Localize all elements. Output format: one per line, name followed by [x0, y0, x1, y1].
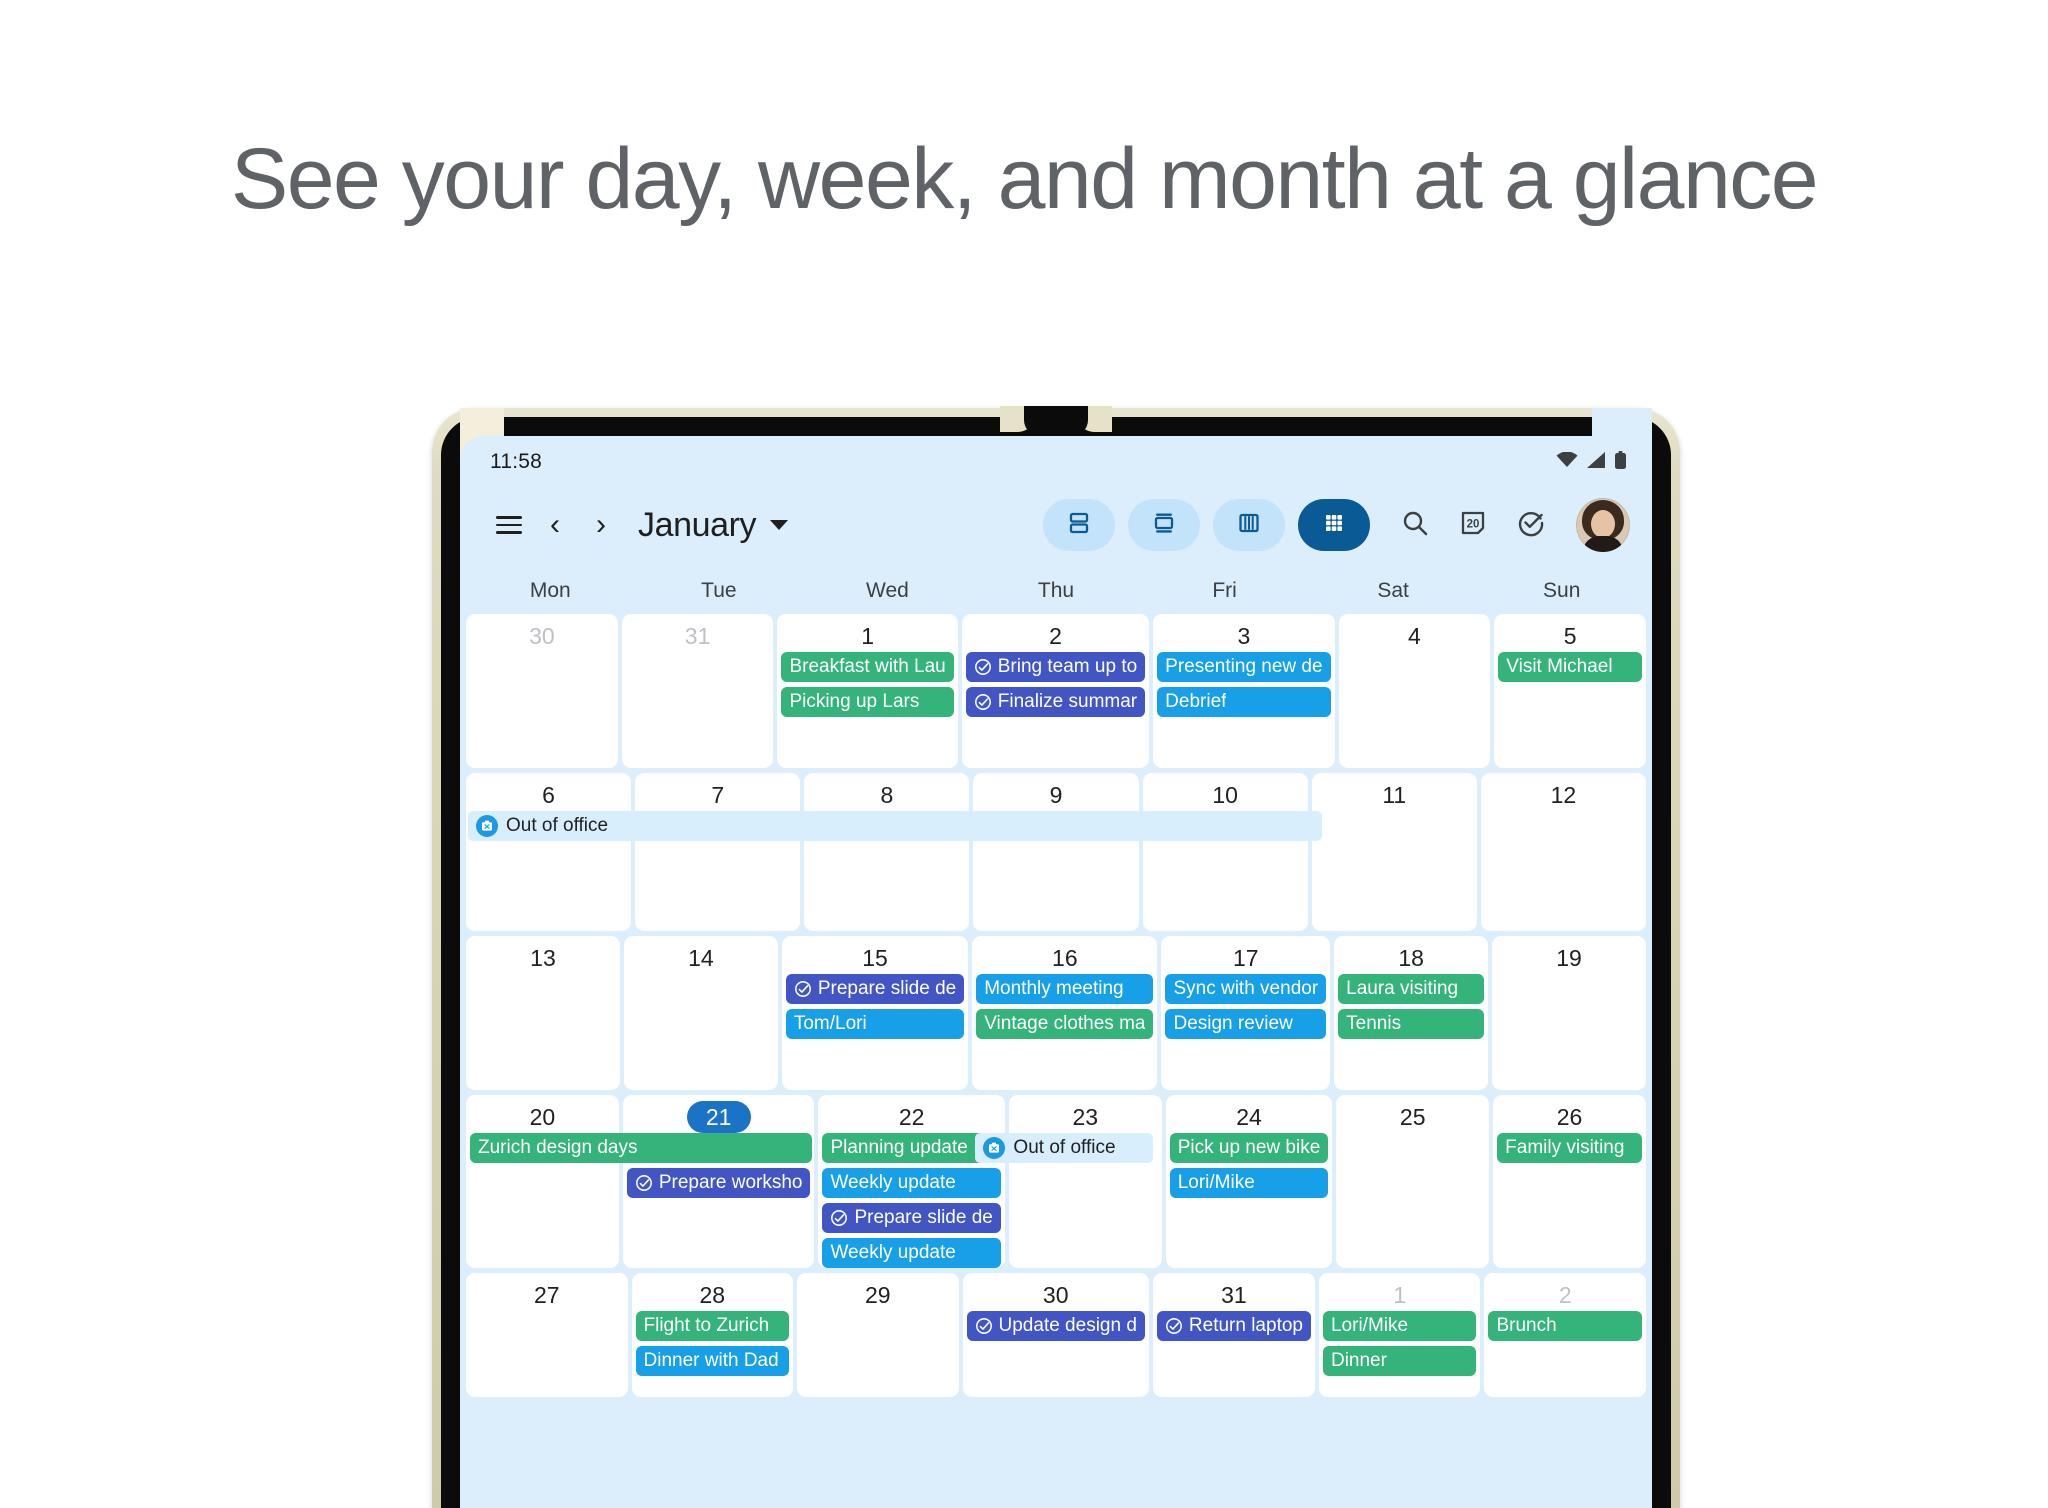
task-chip[interactable]: Update design d: [967, 1311, 1145, 1341]
task-chip[interactable]: Prepare slide de: [786, 974, 964, 1004]
status-bar: 11:58: [460, 436, 1652, 482]
battery-icon: [1615, 451, 1626, 474]
day-events: Brunch: [1484, 1311, 1646, 1341]
event-chip[interactable]: Monthly meeting: [976, 974, 1153, 1004]
calendar-day-cell[interactable]: 30: [466, 614, 618, 768]
chip-label: Finalize summar: [998, 687, 1137, 717]
task-check-icon: [635, 1174, 653, 1192]
toolbar-actions: 20: [1392, 498, 1630, 552]
signal-icon: [1587, 452, 1606, 473]
day-number: 7: [635, 779, 800, 811]
calendar-day-cell[interactable]: 5Visit Michael: [1494, 614, 1646, 768]
day-number: 1: [1319, 1279, 1481, 1311]
event-chip[interactable]: Presenting new de: [1157, 652, 1330, 682]
day-number: 24: [1166, 1101, 1333, 1133]
chip-label: Flight to Zurich: [644, 1311, 770, 1341]
day-number: 30: [466, 620, 618, 652]
day-number: 30: [963, 1279, 1149, 1311]
day-events: Monthly meetingVintage clothes ma: [972, 974, 1157, 1039]
calendar-day-cell[interactable]: 1Breakfast with LauPicking up Lars: [777, 614, 957, 768]
calendar-day-cell[interactable]: 10: [1143, 773, 1308, 931]
day-number: 2: [1484, 1279, 1646, 1311]
day-number: 21: [623, 1101, 815, 1133]
day-events: Return laptop: [1153, 1311, 1315, 1341]
app-toolbar: ‹ › January: [460, 482, 1652, 568]
day-events: Sync with vendorDesign review: [1161, 974, 1330, 1039]
chip-label: Breakfast with Lau: [789, 652, 945, 682]
chip-label: Bring team up to: [998, 652, 1137, 682]
calendar-day-cell[interactable]: 22Planning updateWeekly updatePrepare sl…: [818, 1095, 1004, 1268]
calendar-day-cell[interactable]: 24Pick up new bikeLori/Mike: [1166, 1095, 1333, 1268]
day-number: 4: [1339, 620, 1491, 652]
day-events: Flight to ZurichDinner with Dad: [632, 1311, 794, 1376]
day-number: 29: [797, 1279, 959, 1311]
chip-label: Update design d: [999, 1311, 1137, 1341]
week-view-button[interactable]: [1213, 499, 1285, 551]
day-events: Lori/MikeDinner: [1319, 1311, 1481, 1376]
chip-label: Prepare slide de: [854, 1203, 992, 1233]
day-number: 31: [1153, 1279, 1315, 1311]
chevron-right-icon: ›: [596, 510, 606, 540]
chip-label: Zurich design days: [478, 1133, 637, 1163]
out-of-office-band[interactable]: Out of office: [975, 1133, 1152, 1163]
calendar-day-cell[interactable]: 27: [466, 1273, 628, 1397]
calendar-today-icon: 20: [1458, 508, 1488, 543]
day-number: 2: [962, 620, 1149, 652]
event-chip[interactable]: Planning update: [822, 1133, 1000, 1163]
calendar-day-cell[interactable]: 31Return laptop: [1153, 1273, 1315, 1397]
task-chip[interactable]: Return laptop: [1157, 1311, 1311, 1341]
task-check-icon: [830, 1209, 848, 1227]
calendar-day-cell[interactable]: 29: [797, 1273, 959, 1397]
event-chip[interactable]: Lori/Mike: [1170, 1168, 1329, 1198]
task-check-icon: [974, 693, 992, 711]
event-chip[interactable]: Sync with vendor: [1165, 974, 1326, 1004]
prev-month-button[interactable]: ‹: [532, 502, 578, 548]
out-of-office-icon: [983, 1137, 1005, 1159]
calendar-week-row: 131415Prepare slide deTom/Lori16Monthly …: [466, 936, 1646, 1090]
chevron-down-icon: [770, 520, 788, 530]
schedule-view-icon: [1066, 510, 1092, 541]
calendar-day-cell[interactable]: 31: [622, 614, 774, 768]
calendar-day-cell[interactable]: 2Brunch: [1484, 1273, 1646, 1397]
chip-label: Prepare slide de: [818, 974, 956, 1004]
foldable-device: 11:58 ‹: [432, 408, 1680, 1508]
calendar-day-cell[interactable]: 6: [466, 773, 631, 931]
day-events: Presenting new deDebrief: [1153, 652, 1334, 717]
calendar-day-cell[interactable]: 11: [1312, 773, 1477, 931]
task-chip[interactable]: Bring team up to: [966, 652, 1145, 682]
day-events: Prepare slide deTom/Lori: [782, 974, 968, 1039]
day-number: 15: [782, 942, 968, 974]
day-number: 25: [1336, 1101, 1489, 1133]
day-events: Update design d: [963, 1311, 1149, 1341]
day-number: 3: [1153, 620, 1334, 652]
calendar-day-cell[interactable]: 4: [1339, 614, 1491, 768]
day-number: 8: [804, 779, 969, 811]
month-view-icon: [1321, 510, 1347, 541]
calendar-day-cell[interactable]: 9: [973, 773, 1138, 931]
chip-label: Visit Michael: [1506, 652, 1612, 682]
day-number: 23: [1009, 1101, 1162, 1133]
chip-label: Return laptop: [1189, 1311, 1303, 1341]
event-chip[interactable]: Flight to Zurich: [636, 1311, 790, 1341]
tasks-button[interactable]: [1508, 502, 1554, 548]
chip-label: Debrief: [1165, 687, 1226, 717]
chip-label: Family visiting: [1505, 1133, 1624, 1163]
day-events: Breakfast with LauPicking up Lars: [777, 652, 957, 717]
month-grid: 30311Breakfast with LauPicking up Lars2B…: [460, 614, 1652, 1397]
calendar-day-cell[interactable]: 8: [804, 773, 969, 931]
chip-label: Weekly update: [830, 1238, 955, 1268]
chip-label: Planning update: [830, 1133, 967, 1163]
device-screen: 11:58 ‹: [460, 436, 1652, 1508]
event-chip[interactable]: Pick up new bike: [1170, 1133, 1329, 1163]
chip-label: Brunch: [1496, 1311, 1556, 1341]
event-chip[interactable]: Debrief: [1157, 687, 1330, 717]
calendar-day-cell[interactable]: 14: [624, 936, 778, 1090]
event-chip[interactable]: Picking up Lars: [781, 687, 953, 717]
day-number: 20: [466, 1101, 619, 1133]
page-root: See your day, week, and month at a glanc…: [0, 0, 2048, 1440]
day-number: 18: [1334, 942, 1488, 974]
today-button[interactable]: 20: [1450, 502, 1496, 548]
day-number: 16: [972, 942, 1157, 974]
calendar-day-cell[interactable]: 3Presenting new deDebrief: [1153, 614, 1334, 768]
weekday-tue: Tue: [635, 579, 804, 603]
event-chip[interactable]: Lori/Mike: [1323, 1311, 1477, 1341]
out-of-office-band[interactable]: Out of office: [468, 811, 1322, 841]
chip-label: Out of office: [1013, 1133, 1115, 1163]
event-chip[interactable]: Breakfast with Lau: [781, 652, 953, 682]
calendar-day-cell[interactable]: 20Project update: [466, 1095, 619, 1268]
day-number: 19: [1492, 942, 1646, 974]
day-events: Visit Michael: [1494, 652, 1646, 682]
calendar-week-row: 20Project update21Flight to BarcelonaPre…: [466, 1095, 1646, 1268]
today-pill: 21: [687, 1101, 751, 1133]
search-icon: [1400, 508, 1430, 543]
chip-label: Laura visiting: [1346, 974, 1458, 1004]
multi-day-event-chip[interactable]: Zurich design days: [470, 1133, 812, 1163]
day-view-icon: [1151, 510, 1177, 541]
event-chip[interactable]: Brunch: [1488, 1311, 1642, 1341]
task-chip[interactable]: Finalize summar: [966, 687, 1145, 717]
calendar-day-cell[interactable]: 16Monthly meetingVintage clothes ma: [972, 936, 1157, 1090]
calendar-day-cell[interactable]: 2Bring team up toFinalize summar: [962, 614, 1149, 768]
weekday-wed: Wed: [803, 579, 972, 603]
chip-label: Dinner: [1331, 1346, 1387, 1376]
chip-label: Pick up new bike: [1178, 1133, 1321, 1163]
event-chip[interactable]: Vintage clothes ma: [976, 1009, 1153, 1039]
view-switcher: [1043, 499, 1370, 551]
event-chip[interactable]: Weekly update: [822, 1238, 1000, 1268]
calendar-day-cell[interactable]: 15Prepare slide deTom/Lori: [782, 936, 968, 1090]
chip-label: Presenting new de: [1165, 652, 1322, 682]
day-number: 10: [1143, 779, 1308, 811]
chip-label: Tom/Lori: [794, 1009, 867, 1039]
task-check-icon: [1165, 1317, 1183, 1335]
event-chip[interactable]: Dinner: [1323, 1346, 1477, 1376]
chip-label: Monthly meeting: [984, 974, 1123, 1004]
day-number: 6: [466, 779, 631, 811]
day-number: 22: [818, 1101, 1004, 1133]
chip-label: Weekly update: [830, 1168, 955, 1198]
chip-label: Vintage clothes ma: [984, 1009, 1145, 1039]
tasks-check-icon: [1516, 508, 1546, 543]
chevron-left-icon: ‹: [550, 510, 560, 540]
calendar-week-row: 30311Breakfast with LauPicking up Lars2B…: [466, 614, 1646, 768]
event-chip[interactable]: Tom/Lori: [786, 1009, 964, 1039]
day-number: 5: [1494, 620, 1646, 652]
day-events: Family visiting: [1493, 1133, 1646, 1163]
chip-label: Lori/Mike: [1178, 1168, 1255, 1198]
event-chip[interactable]: Design review: [1165, 1009, 1326, 1039]
day-view-button[interactable]: [1128, 499, 1200, 551]
wifi-icon: [1556, 452, 1578, 473]
schedule-view-button[interactable]: [1043, 499, 1115, 551]
day-events: Laura visitingTennis: [1334, 974, 1488, 1039]
calendar-day-cell[interactable]: 23: [1009, 1095, 1162, 1268]
event-chip[interactable]: Family visiting: [1497, 1133, 1642, 1163]
hamburger-menu-icon[interactable]: [486, 502, 532, 548]
day-number: 31: [622, 620, 774, 652]
day-number: 12: [1481, 779, 1646, 811]
status-clock: 11:58: [490, 450, 542, 474]
calendar-day-cell[interactable]: 18Laura visitingTennis: [1334, 936, 1488, 1090]
task-chip[interactable]: Prepare slide de: [822, 1203, 1000, 1233]
day-number: 26: [1493, 1101, 1646, 1133]
day-number: 13: [466, 942, 620, 974]
calendar-day-cell[interactable]: 30Update design d: [963, 1273, 1149, 1397]
calendar-day-cell[interactable]: 25: [1336, 1095, 1489, 1268]
chip-label: Lori/Mike: [1331, 1311, 1408, 1341]
day-number: 9: [973, 779, 1138, 811]
day-number: 14: [624, 942, 778, 974]
week-view-icon: [1236, 510, 1262, 541]
event-chip[interactable]: Weekly update: [822, 1168, 1000, 1198]
task-check-icon: [975, 1317, 993, 1335]
calendar-day-cell[interactable]: 26Family visiting: [1493, 1095, 1646, 1268]
user-avatar[interactable]: [1576, 498, 1630, 552]
calendar-day-cell[interactable]: 1Lori/MikeDinner: [1319, 1273, 1481, 1397]
day-number: 11: [1312, 779, 1477, 811]
calendar-day-cell[interactable]: 7: [635, 773, 800, 931]
weekday-fri: Fri: [1140, 579, 1309, 603]
next-month-button[interactable]: ›: [578, 502, 624, 548]
day-number: 1: [777, 620, 957, 652]
chip-label: Sync with vendor: [1173, 974, 1318, 1004]
chip-label: Prepare worksho: [659, 1168, 803, 1198]
chip-label: Design review: [1173, 1009, 1292, 1039]
calendar-week-row: 6789101112Out of office: [466, 773, 1646, 931]
calendar-day-cell[interactable]: 12: [1481, 773, 1646, 931]
chip-label: Out of office: [506, 811, 608, 841]
weekday-thu: Thu: [972, 579, 1141, 603]
calendar-day-cell[interactable]: 17Sync with vendorDesign review: [1161, 936, 1330, 1090]
event-chip[interactable]: Laura visiting: [1338, 974, 1484, 1004]
svg-text:20: 20: [1467, 518, 1480, 530]
task-chip[interactable]: Prepare worksho: [627, 1168, 811, 1198]
hinge-notch: [1024, 406, 1088, 436]
out-of-office-icon: [476, 815, 498, 837]
weekday-sun: Sun: [1477, 579, 1646, 603]
page-headline: See your day, week, and month at a glanc…: [0, 130, 2048, 229]
calendar-day-cell[interactable]: 21Flight to BarcelonaPrepare worksho: [623, 1095, 815, 1268]
day-number: 28: [632, 1279, 794, 1311]
event-chip[interactable]: Visit Michael: [1498, 652, 1642, 682]
calendar-week-row: 2728Flight to ZurichDinner with Dad2930U…: [466, 1273, 1646, 1397]
page-title: January: [638, 506, 756, 545]
calendar-day-cell[interactable]: 13: [466, 936, 620, 1090]
task-check-icon: [794, 980, 812, 998]
calendar-day-cell[interactable]: 28Flight to ZurichDinner with Dad: [632, 1273, 794, 1397]
event-chip[interactable]: Dinner with Dad: [636, 1346, 790, 1376]
chip-label: Picking up Lars: [789, 687, 919, 717]
month-view-button[interactable]: [1298, 499, 1370, 551]
weekday-mon: Mon: [466, 579, 635, 603]
day-number: 17: [1161, 942, 1330, 974]
weekday-header: Mon Tue Wed Thu Fri Sat Sun: [460, 568, 1652, 614]
event-chip[interactable]: Tennis: [1338, 1009, 1484, 1039]
chip-label: Tennis: [1346, 1009, 1401, 1039]
calendar-day-cell[interactable]: 19: [1492, 936, 1646, 1090]
chip-label: Dinner with Dad: [644, 1346, 779, 1376]
day-events: Bring team up toFinalize summar: [962, 652, 1149, 717]
day-number: 27: [466, 1279, 628, 1311]
status-icons: [1556, 451, 1626, 474]
month-selector[interactable]: January: [638, 506, 788, 545]
weekday-sat: Sat: [1309, 579, 1478, 603]
search-button[interactable]: [1392, 502, 1438, 548]
task-check-icon: [974, 658, 992, 676]
day-events: Pick up new bikeLori/Mike: [1166, 1133, 1333, 1198]
